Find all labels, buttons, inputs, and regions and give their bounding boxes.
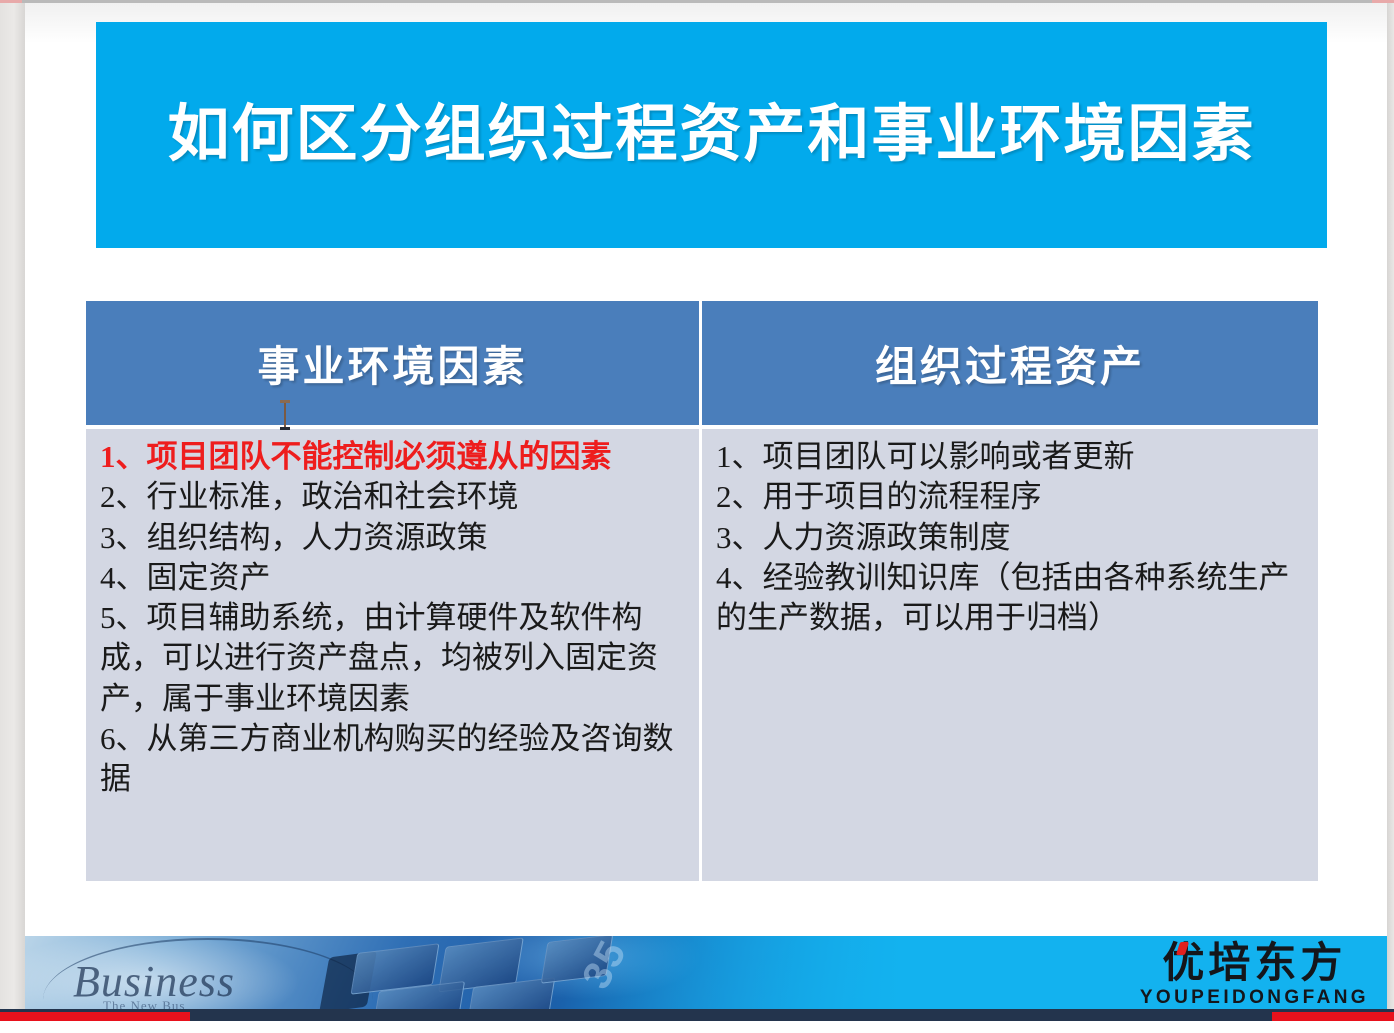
bottom-white-strip: [0, 1021, 1394, 1033]
bottom-navy-rule: [0, 1009, 1394, 1021]
slide-canvas: 如何区分组织过程资产和事业环境因素 事业环境因素 组织过程资产 1、项目团队不能…: [25, 3, 1387, 1012]
table-body-cell-left[interactable]: 1、项目团队不能控制必须遵从的因素 2、行业标准，政治和社会环境 3、组织结构，…: [86, 429, 702, 881]
list-item: 4、经验教训知识库（包括由各种系统生产的生产数据，可以用于归档）: [716, 558, 1304, 639]
list-item: 1、项目团队不能控制必须遵从的因素: [100, 437, 685, 477]
list-item: 2、行业标准，政治和社会环境: [100, 477, 685, 517]
slide-title: 如何区分组织过程资产和事业环境因素: [167, 101, 1255, 169]
presentation-viewer: 如何区分组织过程资产和事业环境因素 事业环境因素 组织过程资产 1、项目团队不能…: [0, 0, 1394, 1033]
table-body-cell-right[interactable]: 1、项目团队可以影响或者更新 2、用于项目的流程程序 3、人力资源政策制度 4、…: [702, 429, 1318, 881]
slide-footer-banner: Business The New Bus 35 优培东方 YOUPEIDONGF…: [25, 936, 1387, 1012]
list-item: 1、项目团队可以影响或者更新: [716, 437, 1304, 477]
table-header-label-right: 组织过程资产: [875, 333, 1145, 394]
table-header-cell-left: 事业环境因素: [86, 301, 702, 429]
brand-logo-pinyin: YOUPEIDONGFANG: [1140, 988, 1369, 1007]
slide-title-band: 如何区分组织过程资产和事业环境因素: [96, 22, 1327, 248]
list-item: 4、固定资产: [100, 558, 685, 598]
list-item: 3、人力资源政策制度: [716, 518, 1304, 558]
comparison-table: 事业环境因素 组织过程资产 1、项目团队不能控制必须遵从的因素 2、行业标准，政…: [86, 301, 1318, 881]
brand-logo-chinese: 优培东方: [1140, 942, 1369, 984]
right-gutter: [1387, 3, 1394, 1012]
list-item: 3、组织结构，人力资源政策: [100, 518, 685, 558]
footer-business-photo: Business The New Bus 35: [25, 936, 905, 1012]
brand-logo: 优培东方 YOUPEIDONGFANG: [1140, 942, 1369, 1007]
table-header-label-left: 事业环境因素: [257, 333, 527, 394]
list-item: 5、项目辅助系统，由计算硬件及软件构成，可以进行资产盘点，均被列入固定资产，属于…: [100, 598, 685, 719]
text-cursor-icon: [284, 402, 286, 428]
list-item: 6、从第三方商业机构购买的经验及咨询数据: [100, 719, 685, 800]
list-item: 2、用于项目的流程程序: [716, 477, 1304, 517]
table-header-cell-right: 组织过程资产: [702, 301, 1318, 429]
bottom-red-accent-right: [1272, 1012, 1394, 1021]
bottom-red-accent-left: [0, 1012, 190, 1021]
left-gutter: [0, 3, 25, 1012]
